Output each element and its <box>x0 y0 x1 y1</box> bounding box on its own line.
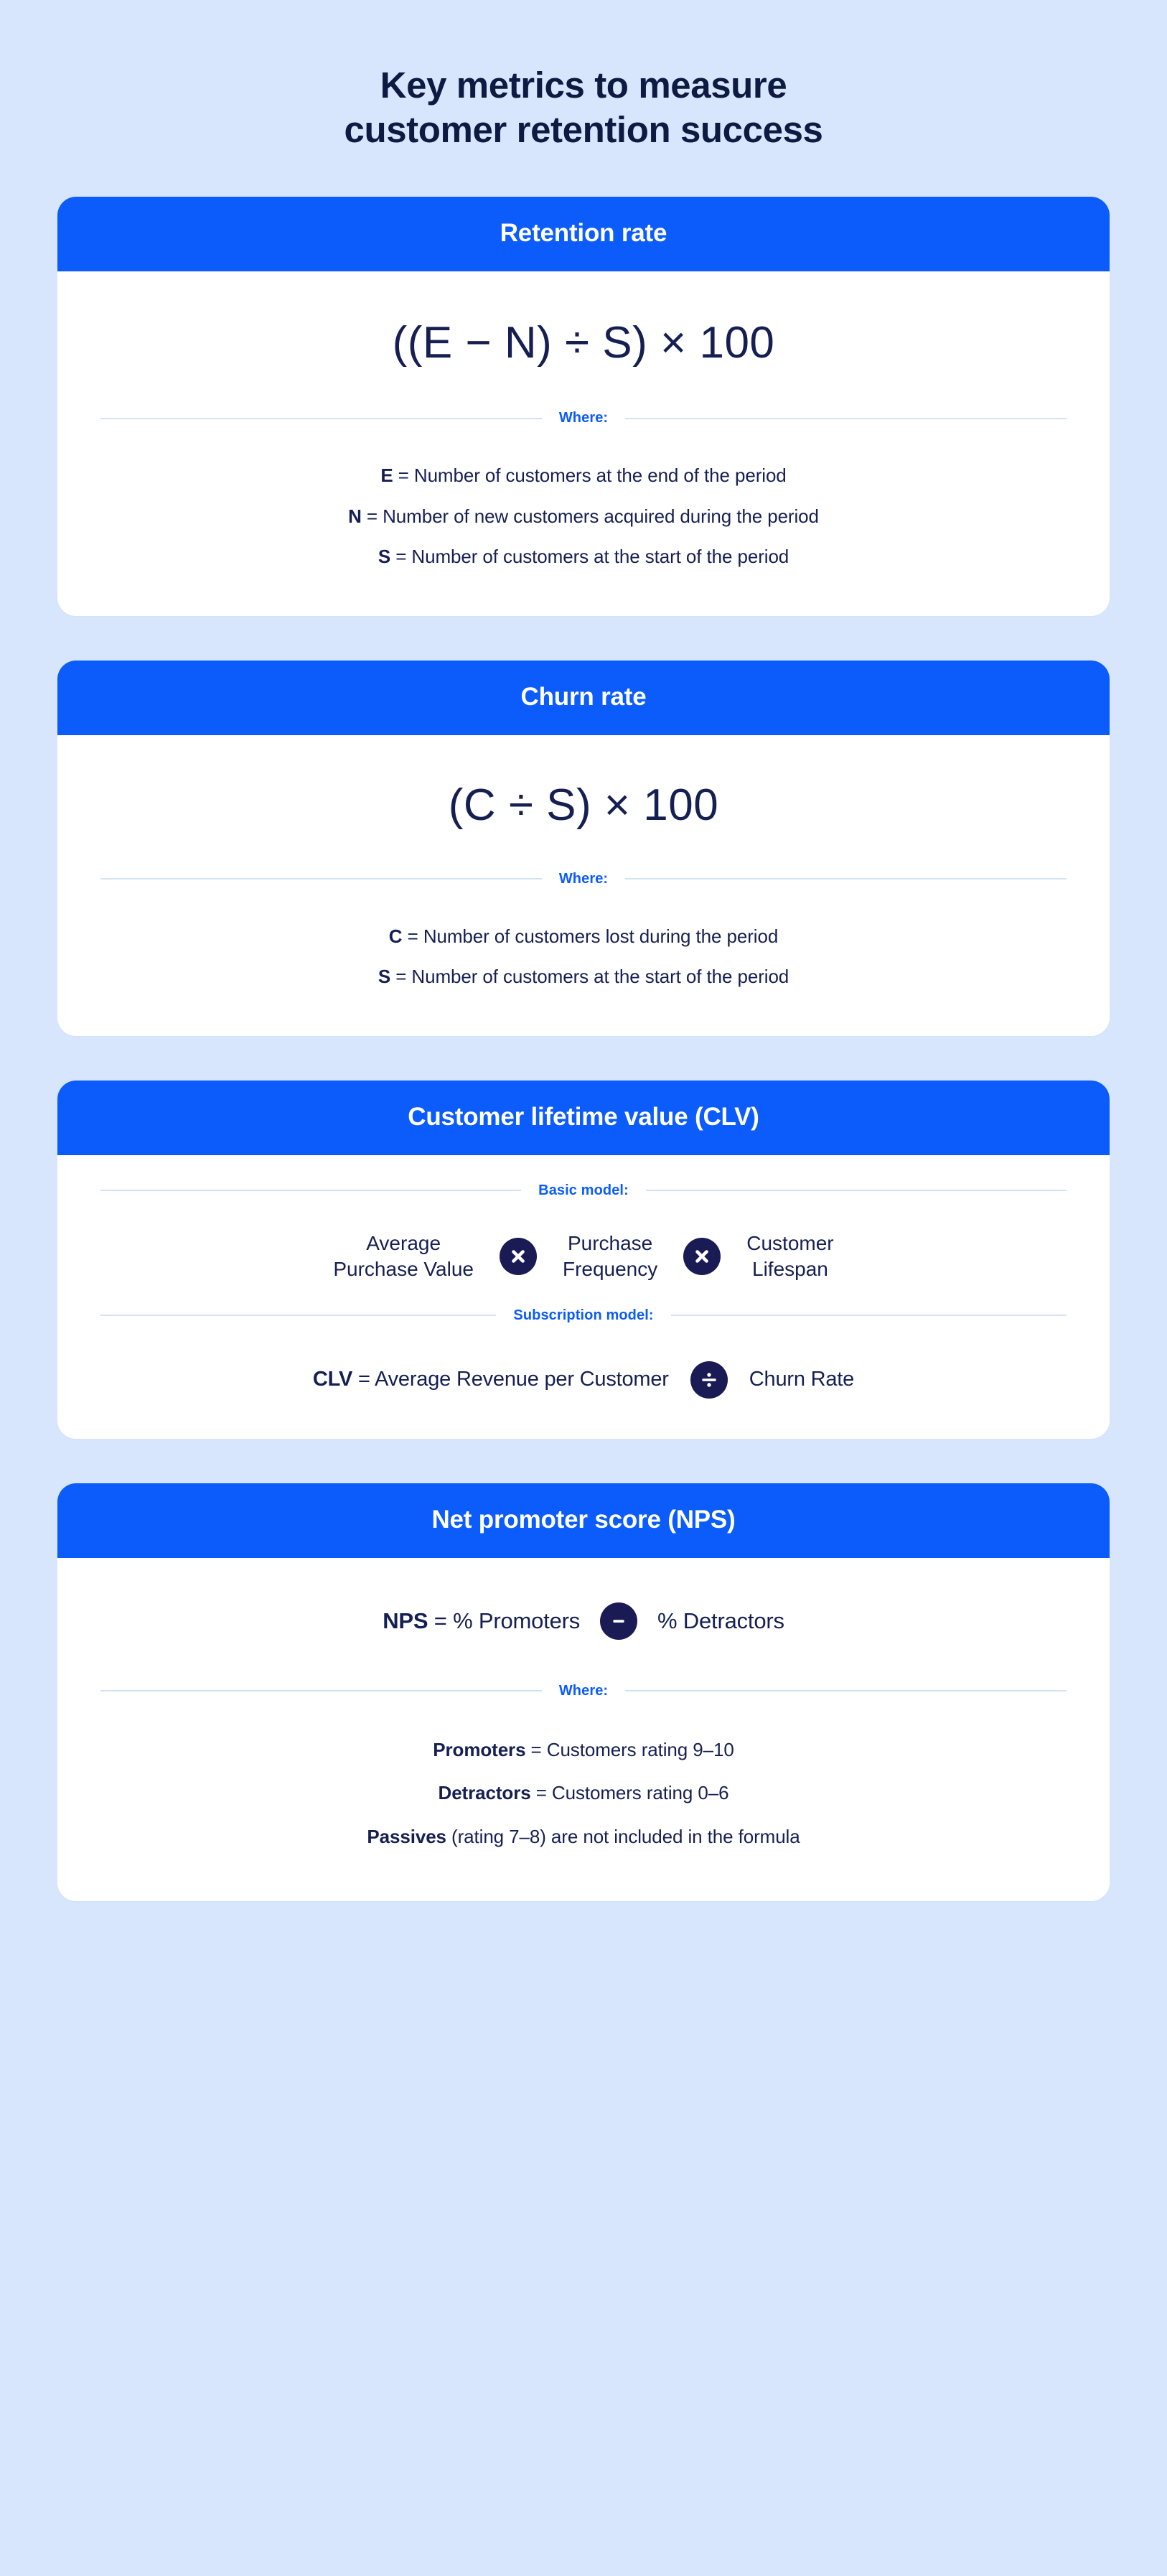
card-header-retention-rate: Retention rate <box>57 197 1110 271</box>
definition-row: Passives (rating 7–8) are not included i… <box>100 1815 1067 1859</box>
divider-rule-left <box>100 1690 542 1691</box>
definition-row: C = Number of customers lost during the … <box>100 916 1067 957</box>
definition-row: S = Number of customers at the start of … <box>100 956 1067 997</box>
card-body-churn-rate: (C ÷ S) × 100 Where: C = Number of custo… <box>57 735 1110 1036</box>
clv-term-customer-lifespan: Customer Lifespan <box>746 1231 833 1283</box>
clv-subscription-model-row: CLV = Average Revenue per Customer Churn… <box>100 1328 1067 1439</box>
divider-label-where: Where: <box>559 1683 608 1699</box>
formula-churn-rate: (C ÷ S) × 100 <box>100 735 1067 871</box>
card-body-net-promoter-score: NPS = % Promoters % Detractors Where: <box>57 1558 1110 1902</box>
divider-where-nps: Where: <box>100 1683 1067 1699</box>
metric-card-customer-lifetime-value: Customer lifetime value (CLV) Basic mode… <box>57 1081 1110 1439</box>
definition-row: E = Number of customers at the end of th… <box>100 455 1067 496</box>
multiply-icon <box>500 1238 537 1275</box>
definition-symbol: S <box>378 966 390 987</box>
divider-where-churn: Where: <box>100 871 1067 887</box>
divider-rule-left <box>100 878 542 879</box>
definition-row: S = Number of customers at the start of … <box>100 536 1067 577</box>
multiply-icon <box>683 1238 721 1275</box>
definition-text: = Number of customers at the start of th… <box>390 546 789 567</box>
metric-card-retention-rate: Retention rate ((E − N) ÷ S) × 100 Where… <box>57 197 1110 616</box>
divider-basic-model: Basic model: <box>100 1155 1067 1199</box>
nps-symbol: NPS <box>383 1608 428 1633</box>
nps-formula-left-text: = % Promoters <box>428 1608 580 1633</box>
clv-term-average-purchase-value: Average Purchase Value <box>333 1231 474 1283</box>
definitions-retention-rate: E = Number of customers at the end of th… <box>100 431 1067 616</box>
definition-row: Detractors = Customers rating 0–6 <box>100 1771 1067 1815</box>
nps-formula-left: NPS = % Promoters <box>383 1608 580 1634</box>
page-title: Key metrics to measure customer retentio… <box>0 0 1167 152</box>
definition-text: = Customers rating 0–6 <box>531 1782 729 1803</box>
formula-retention-rate: ((E − N) ÷ S) × 100 <box>100 271 1067 410</box>
definition-row: Promoters = Customers rating 9–10 <box>100 1728 1067 1772</box>
minus-icon <box>600 1602 637 1640</box>
nps-formula-right: % Detractors <box>657 1608 784 1634</box>
definition-symbol: C <box>389 925 403 947</box>
definition-symbol: Passives <box>367 1826 446 1847</box>
card-body-customer-lifetime-value: Basic model: Average Purchase Value Purc… <box>57 1155 1110 1439</box>
divider-rule-right <box>646 1190 1067 1191</box>
card-header-net-promoter-score: Net promoter score (NPS) <box>57 1483 1110 1558</box>
definition-symbol: Promoters <box>433 1739 525 1760</box>
divider-where-retention: Where: <box>100 410 1067 426</box>
definition-text: = Number of new customers acquired durin… <box>362 505 819 527</box>
definition-row: N = Number of new customers acquired dur… <box>100 496 1067 537</box>
page-title-line-1: Key metrics to measure <box>115 63 1052 108</box>
clv-subscription-right: Churn Rate <box>749 1368 854 1391</box>
definition-symbol: S <box>378 546 390 567</box>
clv-subscription-left-text: = Average Revenue per Customer <box>352 1368 669 1391</box>
definition-text: = Number of customers at the start of th… <box>390 966 789 987</box>
nps-formula-row: NPS = % Promoters % Detractors <box>100 1558 1067 1683</box>
divider-rule-left <box>100 1190 521 1191</box>
definition-text: (rating 7–8) are not included in the for… <box>446 1826 800 1847</box>
divider-label-subscription-model: Subscription model: <box>513 1307 653 1324</box>
clv-subscription-left: CLV = Average Revenue per Customer <box>313 1368 669 1391</box>
divider-rule-right <box>625 418 1067 419</box>
divide-icon <box>690 1361 728 1399</box>
clv-basic-model-row: Average Purchase Value Purchase Frequenc… <box>100 1203 1067 1307</box>
card-header-customer-lifetime-value: Customer lifetime value (CLV) <box>57 1081 1110 1155</box>
page-title-line-2: customer retention success <box>115 108 1052 152</box>
clv-term-purchase-frequency: Purchase Frequency <box>563 1231 657 1283</box>
divider-label-where: Where: <box>559 871 608 887</box>
divider-rule-left <box>100 1315 496 1316</box>
metric-card-net-promoter-score: Net promoter score (NPS) NPS = % Promote… <box>57 1483 1110 1902</box>
definition-text: = Number of customers at the end of the … <box>393 465 787 486</box>
metric-card-churn-rate: Churn rate (C ÷ S) × 100 Where: C = Numb… <box>57 661 1110 1036</box>
infographic-page: Key metrics to measure customer retentio… <box>0 0 1167 2576</box>
divider-rule-right <box>625 878 1067 879</box>
divider-rule-right <box>671 1315 1067 1316</box>
definitions-churn-rate: C = Number of customers lost during the … <box>100 892 1067 1036</box>
card-body-retention-rate: ((E − N) ÷ S) × 100 Where: E = Number of… <box>57 271 1110 616</box>
divider-rule-right <box>625 1690 1067 1691</box>
definition-text: = Customers rating 9–10 <box>525 1739 734 1760</box>
divider-subscription-model: Subscription model: <box>100 1307 1067 1324</box>
definition-symbol: N <box>348 505 362 527</box>
definitions-net-promoter-score: Promoters = Customers rating 9–10 Detrac… <box>100 1704 1067 1902</box>
divider-label-where: Where: <box>559 410 608 426</box>
divider-label-basic-model: Basic model: <box>538 1182 629 1199</box>
definition-symbol: Detractors <box>439 1782 531 1803</box>
card-header-churn-rate: Churn rate <box>57 661 1110 735</box>
metric-cards-list: Retention rate ((E − N) ÷ S) × 100 Where… <box>0 197 1167 1901</box>
definition-symbol: E <box>380 465 393 486</box>
clv-symbol: CLV <box>313 1368 352 1391</box>
divider-rule-left <box>100 418 542 419</box>
definition-text: = Number of customers lost during the pe… <box>402 925 778 947</box>
